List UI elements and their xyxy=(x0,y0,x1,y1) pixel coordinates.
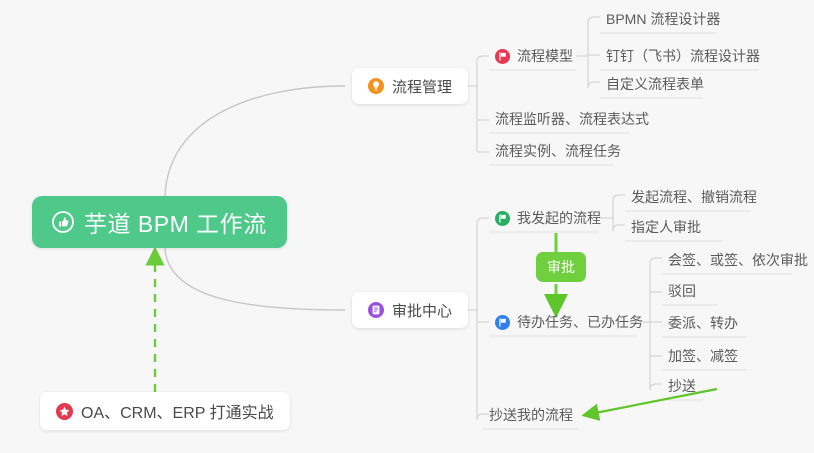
node-start-cancel-process[interactable]: 发起流程、撤销流程 xyxy=(625,183,763,211)
root-node[interactable]: 芋道 BPM 工作流 xyxy=(32,196,287,248)
node-custom-process-form[interactable]: 自定义流程表单 xyxy=(600,70,710,98)
node-add-remove-sign-label: 加签、减签 xyxy=(668,346,738,366)
branch-approval-center[interactable]: 审批中心 xyxy=(352,292,468,328)
node-bpmn-designer-label: BPMN 流程设计器 xyxy=(606,9,720,29)
node-oa-crm-erp[interactable]: OA、CRM、ERP 打通实战 xyxy=(40,392,290,430)
node-cc-to-me-process-label: 抄送我的流程 xyxy=(489,405,573,425)
link-root-approval-center xyxy=(165,248,345,310)
node-process-instance-task[interactable]: 流程实例、流程任务 xyxy=(489,137,627,165)
node-custom-process-form-label: 自定义流程表单 xyxy=(606,74,704,94)
node-my-started-process[interactable]: 我发起的流程 xyxy=(489,204,607,232)
node-dingtalk-feishu-designer[interactable]: 钉钉（飞书）流程设计器 xyxy=(600,42,766,70)
node-delegate-transfer-label: 委派、转办 xyxy=(668,313,738,333)
node-todo-done-task[interactable]: 待办任务、已办任务 xyxy=(489,308,649,336)
branch-process-management[interactable]: 流程管理 xyxy=(352,68,468,104)
lightbulb-icon xyxy=(368,78,384,94)
node-cc-to-me-process[interactable]: 抄送我的流程 xyxy=(483,401,579,429)
node-countersign-label: 会签、或签、依次审批 xyxy=(668,250,808,270)
link-model-bracket xyxy=(576,17,600,88)
node-cc-label: 抄送 xyxy=(668,376,696,396)
node-assignee-approval-label: 指定人审批 xyxy=(631,217,701,237)
node-add-remove-sign[interactable]: 加签、减签 xyxy=(662,342,744,370)
mindmap-canvas: 芋道 BPM 工作流 流程管理 流程模型 BPMN 流程设计器 钉钉（飞书）流程 xyxy=(0,0,814,453)
tag-approval[interactable]: 审批 xyxy=(536,252,586,282)
flag-icon xyxy=(495,315,510,330)
tag-approval-label: 审批 xyxy=(547,257,575,277)
node-process-model-label: 流程模型 xyxy=(517,46,573,66)
node-process-model[interactable]: 流程模型 xyxy=(489,42,579,70)
root-label: 芋道 BPM 工作流 xyxy=(84,205,267,239)
flag-icon xyxy=(495,49,510,64)
node-dingtalk-feishu-designer-label: 钉钉（飞书）流程设计器 xyxy=(606,46,760,66)
node-bpmn-designer[interactable]: BPMN 流程设计器 xyxy=(600,5,726,33)
thumbs-up-icon xyxy=(52,211,74,233)
node-cc[interactable]: 抄送 xyxy=(662,372,702,400)
node-todo-done-task-label: 待办任务、已办任务 xyxy=(517,312,643,332)
node-start-cancel-process-label: 发起流程、撤销流程 xyxy=(631,187,757,207)
node-assignee-approval[interactable]: 指定人审批 xyxy=(625,213,707,241)
node-reject-label: 驳回 xyxy=(668,281,696,301)
node-process-listener-expression[interactable]: 流程监听器、流程表达式 xyxy=(489,105,655,133)
star-icon xyxy=(56,403,73,420)
clipboard-icon xyxy=(368,302,384,318)
node-reject[interactable]: 驳回 xyxy=(662,277,702,305)
node-my-started-process-label: 我发起的流程 xyxy=(517,208,601,228)
node-countersign[interactable]: 会签、或签、依次审批 xyxy=(662,246,814,274)
node-oa-crm-erp-label: OA、CRM、ERP 打通实战 xyxy=(81,399,274,423)
node-process-listener-expression-label: 流程监听器、流程表达式 xyxy=(495,109,649,129)
node-delegate-transfer[interactable]: 委派、转办 xyxy=(662,309,744,337)
link-root-process-management xyxy=(165,86,345,196)
branch-process-management-label: 流程管理 xyxy=(392,76,452,97)
flag-icon xyxy=(495,211,510,226)
branch-approval-center-label: 审批中心 xyxy=(392,300,452,321)
node-process-instance-task-label: 流程实例、流程任务 xyxy=(495,141,621,161)
